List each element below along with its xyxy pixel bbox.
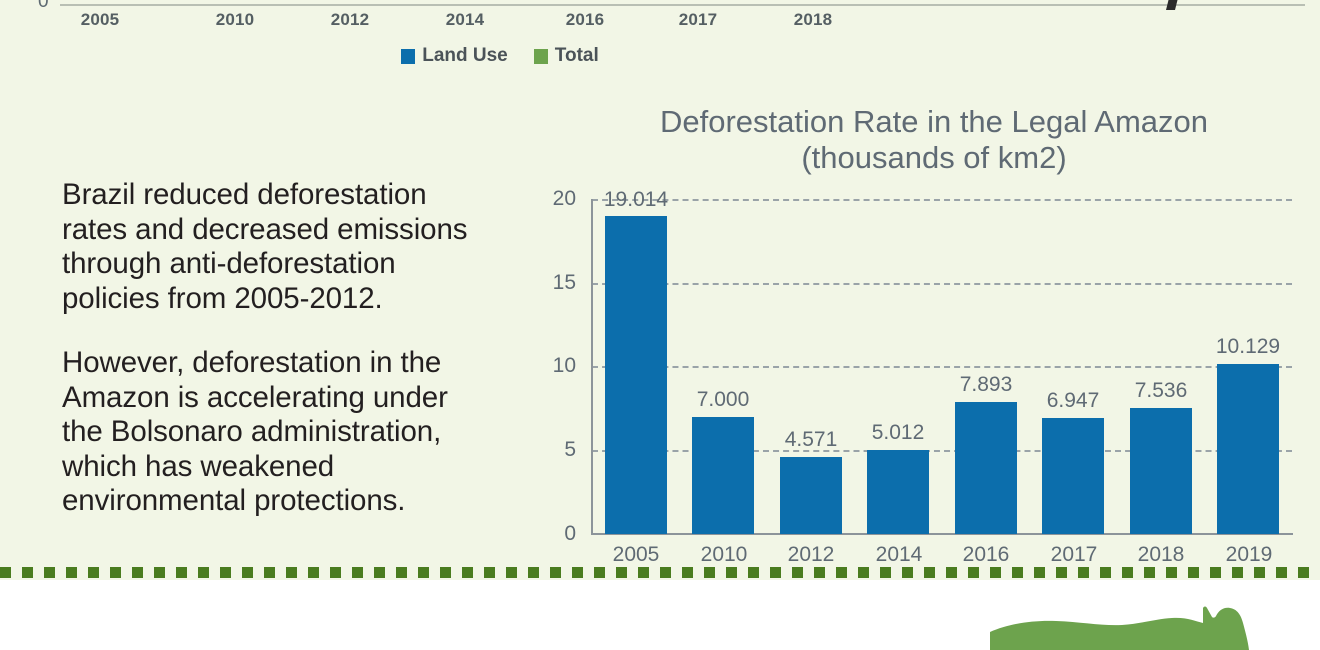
y-axis-tick-label: 0 bbox=[520, 522, 576, 546]
top-chart-xtick: 2005 bbox=[55, 10, 145, 30]
bar-value-label-2010: 7.000 bbox=[682, 388, 764, 412]
top-chart-xtick: 2017 bbox=[653, 10, 743, 30]
gridline-15 bbox=[592, 283, 1292, 285]
top-chart-axis-line bbox=[60, 4, 1305, 6]
gridline-10 bbox=[592, 366, 1292, 368]
bar-value-label-2012: 4.571 bbox=[770, 428, 852, 452]
legend-label: Total bbox=[555, 45, 599, 67]
top-chart-xtick: 2010 bbox=[190, 10, 280, 30]
bar-2010[interactable] bbox=[692, 417, 754, 534]
x-axis-tick-label-2010: 2010 bbox=[680, 543, 768, 567]
x-axis-tick-label-2005: 2005 bbox=[592, 543, 680, 567]
deforestation-bar-chart: Deforestation Rate in the Legal Amazon (… bbox=[516, 104, 1306, 569]
x-axis-tick-label-2016: 2016 bbox=[942, 543, 1030, 567]
y-axis-tick-label: 5 bbox=[520, 438, 576, 462]
top-chart-xtick: 2018 bbox=[768, 10, 858, 30]
y-axis-tick-label: 20 bbox=[520, 187, 576, 211]
bar-2017[interactable] bbox=[1042, 418, 1104, 534]
narrative-text-block: Brazil reduced deforestation rates and d… bbox=[62, 178, 482, 519]
top-chart-xtick: 2014 bbox=[420, 10, 510, 30]
bar-value-label-2016: 7.893 bbox=[945, 373, 1027, 397]
legend-item-land-use: Land Use bbox=[401, 45, 508, 67]
bar-2019[interactable] bbox=[1217, 364, 1279, 534]
bar-2005[interactable] bbox=[605, 216, 667, 534]
bar-value-label-2018: 7.536 bbox=[1120, 379, 1202, 403]
chart-title-line-1: Deforestation Rate in the Legal Amazon bbox=[562, 104, 1306, 140]
y-axis-tick-label: 15 bbox=[520, 271, 576, 295]
chart-plot-area: 20 15 10 5 0 19.014 7.000 4.571 5.012 7.… bbox=[592, 199, 1292, 534]
bar-2016[interactable] bbox=[955, 402, 1017, 534]
chart-title: Deforestation Rate in the Legal Amazon (… bbox=[562, 104, 1306, 176]
bar-value-label-2005: 19.014 bbox=[595, 188, 677, 212]
top-chart-y-zero-label: 0 bbox=[38, 0, 49, 13]
legend-label: Land Use bbox=[422, 45, 508, 67]
bar-value-label-2019: 10.129 bbox=[1203, 335, 1293, 359]
legend-swatch-icon bbox=[534, 49, 548, 64]
top-chart-xtick: 2012 bbox=[305, 10, 395, 30]
bar-value-label-2017: 6.947 bbox=[1032, 389, 1114, 413]
dotted-divider bbox=[0, 567, 1320, 578]
y-axis-line bbox=[591, 199, 593, 534]
x-axis-tick-label-2017: 2017 bbox=[1030, 543, 1118, 567]
top-chart-legend: Land Use Total bbox=[0, 45, 1000, 67]
top-chart-clipped: 0 2005 2010 2012 2014 2016 2017 2018 Lan… bbox=[0, 0, 1320, 90]
x-axis-tick-label-2012: 2012 bbox=[767, 543, 855, 567]
top-chart-xtick: 2016 bbox=[540, 10, 630, 30]
bar-2018[interactable] bbox=[1130, 408, 1192, 534]
slide-canvas: 0 2005 2010 2012 2014 2016 2017 2018 Lan… bbox=[0, 0, 1320, 650]
y-axis-tick-label: 10 bbox=[520, 354, 576, 378]
leaf-landscape-decoration-icon bbox=[990, 590, 1320, 650]
bar-2014[interactable] bbox=[867, 450, 929, 534]
bar-value-label-2014: 5.012 bbox=[857, 421, 939, 445]
gridline-20 bbox=[592, 199, 1292, 201]
legend-item-total: Total bbox=[534, 45, 599, 67]
body-paragraph-1: Brazil reduced deforestation rates and d… bbox=[62, 178, 482, 316]
bar-2012[interactable] bbox=[780, 457, 842, 534]
x-axis-tick-label-2014: 2014 bbox=[855, 543, 943, 567]
body-paragraph-2: However, deforestation in the Amazon is … bbox=[62, 346, 482, 519]
legend-swatch-icon bbox=[401, 49, 415, 64]
chart-title-line-2: (thousands of km2) bbox=[562, 140, 1306, 176]
x-axis-tick-label-2018: 2018 bbox=[1117, 543, 1205, 567]
x-axis-tick-label-2019: 2019 bbox=[1205, 543, 1293, 567]
